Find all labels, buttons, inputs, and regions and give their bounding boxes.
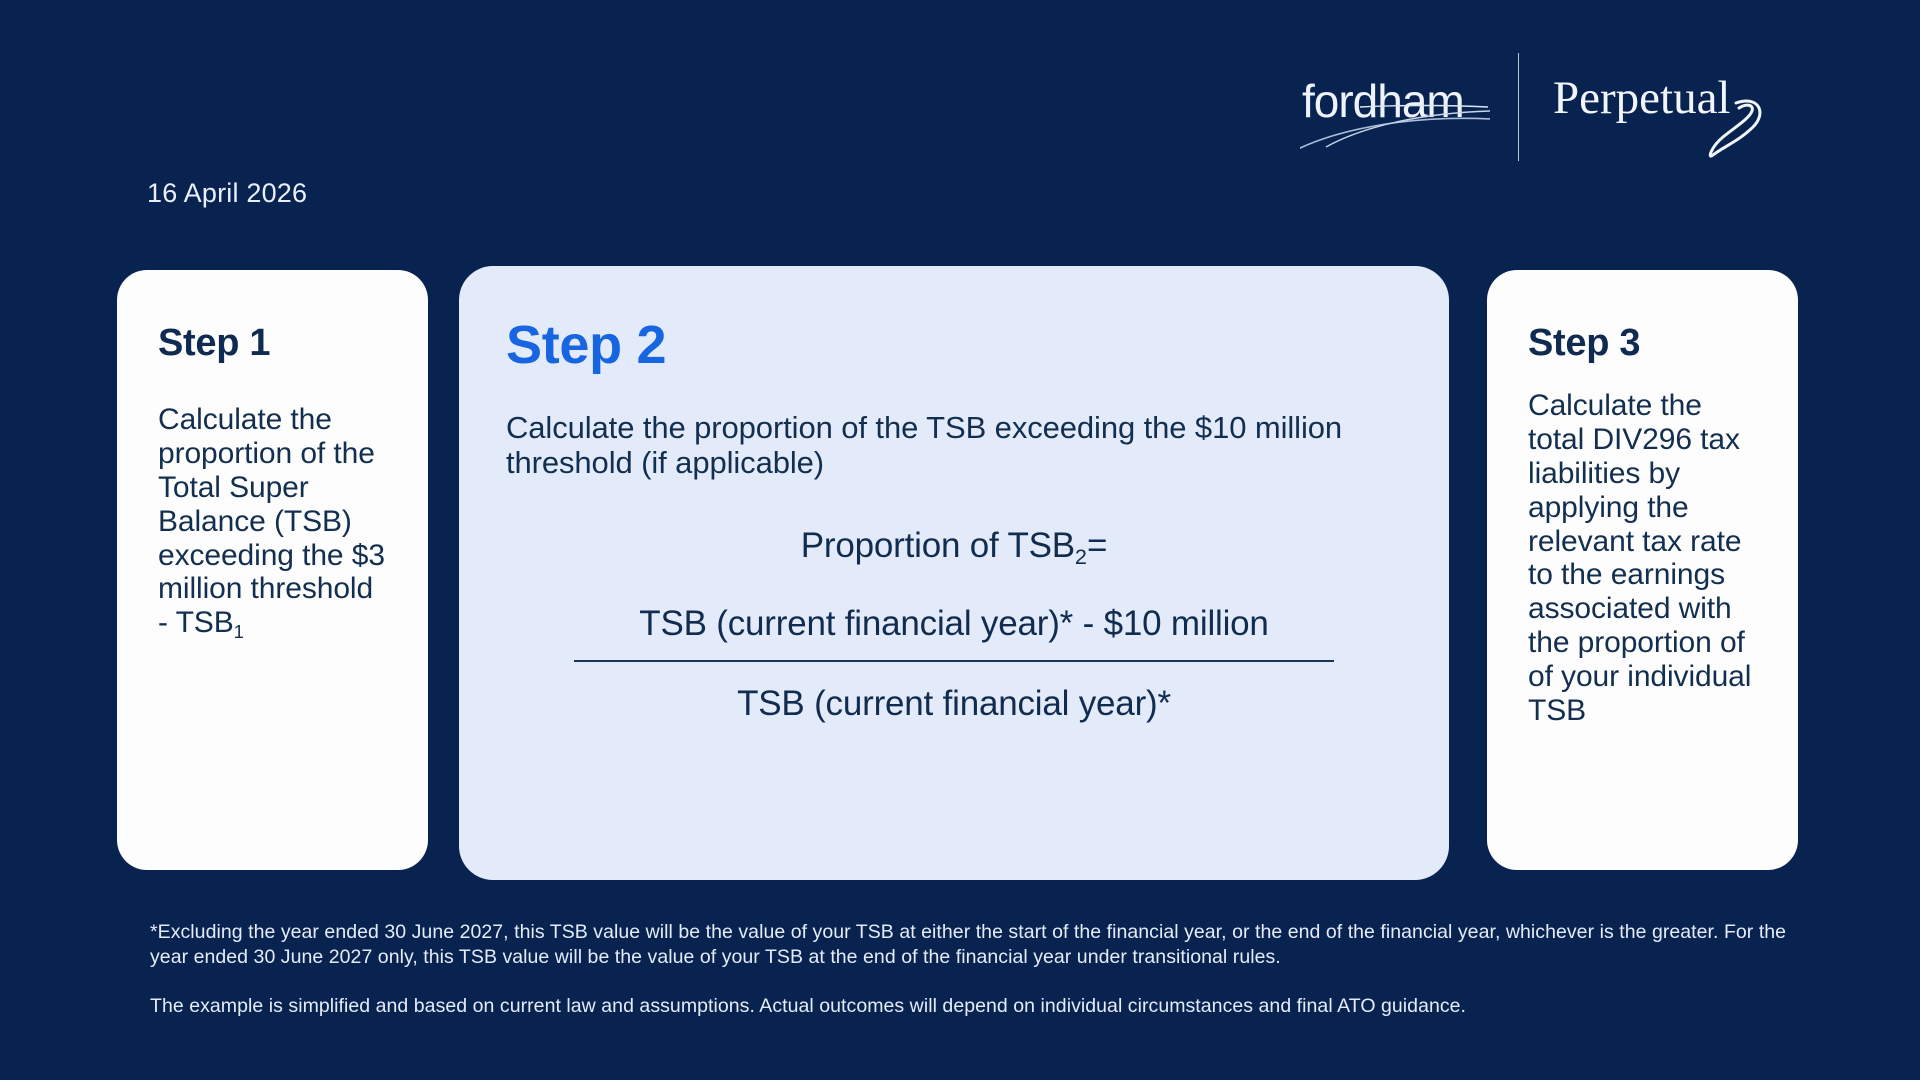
footnote-disclaimer: The example is simplified and based on c… [150,994,1790,1019]
step-2-card: Step 2 Calculate the proportion of the T… [459,266,1449,880]
step-2-title: Step 2 [506,314,1405,376]
formula-lead: Proportion of TSB2= [503,526,1405,570]
presentation-date: 16 April 2026 [147,178,307,209]
perpetual-logo: Perpetual [1553,55,1768,160]
formula-numerator: TSB (current financial year)* - $10 mill… [574,604,1334,660]
footnotes-section: *Excluding the year ended 30 June 2027, … [150,920,1790,1019]
fordham-logo: fordham [1300,57,1490,157]
formula-denominator: TSB (current financial year)* [574,662,1334,724]
step-2-formula: Proportion of TSB2= TSB (current financi… [503,526,1405,724]
step-1-card: Step 1 Calculate the proportion of the T… [117,270,428,870]
steps-container: Step 1 Calculate the proportion of the T… [0,266,1920,880]
step-2-body: Calculate the proportion of the TSB exce… [506,410,1405,480]
brand-logo-lockup: fordham Perpetual [1300,52,1760,162]
step-3-title: Step 3 [1528,322,1762,365]
svg-text:Perpetual: Perpetual [1553,72,1731,124]
logo-divider-icon [1518,53,1519,161]
step-3-body: Calculate the total DIV296 tax liabiliti… [1528,389,1762,728]
step-1-title: Step 1 [158,322,392,365]
formula-fraction: TSB (current financial year)* - $10 mill… [574,570,1334,724]
footnote-tsb-valuation: *Excluding the year ended 30 June 2027, … [150,920,1790,970]
step-3-card: Step 3 Calculate the total DIV296 tax li… [1487,270,1798,870]
step-1-body: Calculate the proportion of the Total Su… [158,403,392,642]
